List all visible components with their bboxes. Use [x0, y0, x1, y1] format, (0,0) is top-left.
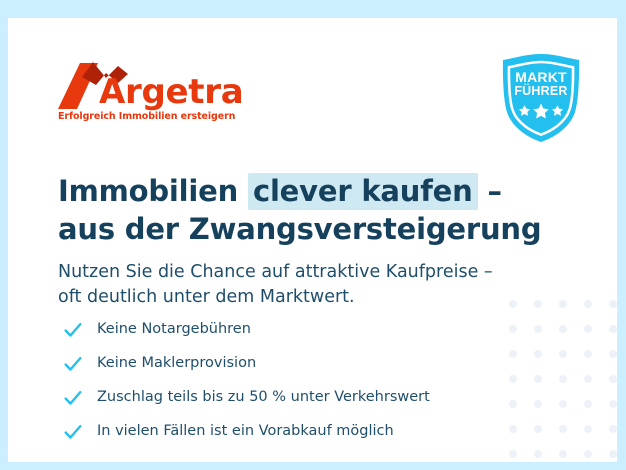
shield-icon [495, 52, 587, 144]
list-item: Keine Notargebühren [62, 315, 532, 345]
subheadline: Nutzen Sie die Chance auf attraktive Kau… [58, 260, 558, 312]
dot [584, 325, 592, 333]
logo-tagline: Erfolgreich Immobilien ersteigern [58, 111, 235, 122]
list-item-label: Keine Maklerprovision [97, 355, 256, 372]
argetra-logo[interactable]: Argetra Erfolgreich Immobilien ersteiger… [56, 61, 256, 129]
subheadline-line-2: oft deutlich unter dem Marktwert. [58, 285, 558, 311]
check-icon [62, 353, 84, 375]
headline-post: – [478, 174, 502, 208]
list-item: Zuschlag teils bis zu 50 % unter Verkehr… [62, 383, 532, 413]
headline-highlight: clever kaufen [248, 173, 478, 210]
dot [559, 450, 567, 458]
benefits-list: Keine NotargebührenKeine Maklerprovision… [62, 315, 532, 451]
dot [534, 375, 542, 383]
dot [534, 400, 542, 408]
list-item-label: Keine Notargebühren [97, 321, 251, 338]
list-item-label: In vielen Fällen ist ein Vorabkauf mögli… [97, 423, 394, 440]
dot [584, 400, 592, 408]
logo-wordmark: Argetra [99, 75, 243, 109]
dot [609, 400, 617, 408]
dot [534, 450, 542, 458]
dot [534, 325, 542, 333]
content-card: Argetra Erfolgreich Immobilien ersteiger… [8, 18, 617, 462]
headline-line-1: Immobilien clever kaufen – [58, 173, 538, 210]
dot [584, 450, 592, 458]
dot [559, 350, 567, 358]
dot [509, 450, 517, 458]
dot [584, 375, 592, 383]
dot [609, 450, 617, 458]
list-item: In vielen Fällen ist ein Vorabkauf mögli… [62, 417, 532, 447]
dot [584, 425, 592, 433]
dot [584, 300, 592, 308]
page-title: Immobilien clever kaufen – aus der Zwang… [58, 173, 538, 247]
dot [559, 300, 567, 308]
dot [584, 350, 592, 358]
dot [559, 375, 567, 383]
dot [559, 400, 567, 408]
dot [609, 375, 617, 383]
dot [609, 425, 617, 433]
dot [534, 350, 542, 358]
headline-pre: Immobilien [58, 174, 248, 208]
check-icon [62, 421, 84, 443]
list-item-label: Zuschlag teils bis zu 50 % unter Verkehr… [97, 389, 430, 406]
list-item: Keine Maklerprovision [62, 349, 532, 379]
check-icon [62, 319, 84, 341]
check-icon [62, 387, 84, 409]
dot [609, 350, 617, 358]
dot [609, 300, 617, 308]
banner-root: Argetra Erfolgreich Immobilien ersteiger… [0, 0, 626, 470]
subheadline-line-1: Nutzen Sie die Chance auf attraktive Kau… [58, 260, 558, 286]
dot [559, 325, 567, 333]
dot [559, 425, 567, 433]
dot [534, 425, 542, 433]
headline-line-2: aus der Zwangsversteigerung [58, 211, 538, 248]
market-leader-badge: MARKT FÜHRER [495, 52, 587, 144]
dot [609, 325, 617, 333]
